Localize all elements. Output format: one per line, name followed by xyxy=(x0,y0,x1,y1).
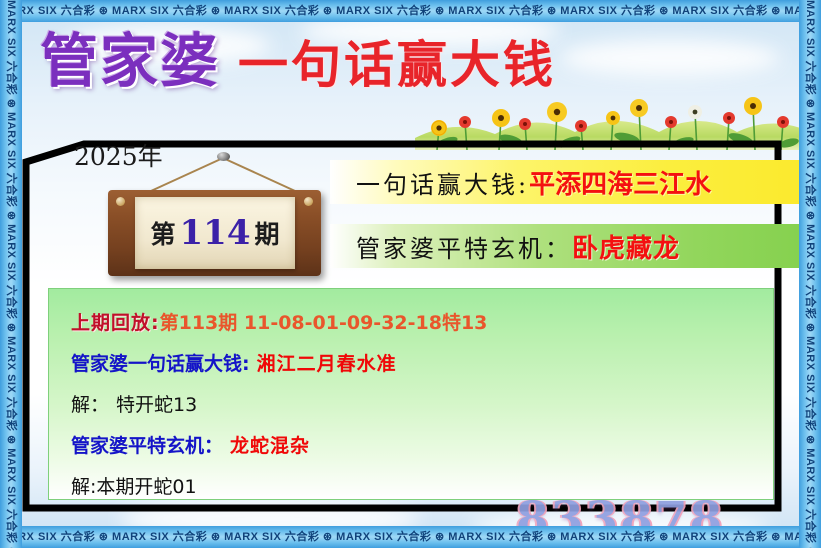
sign-nail xyxy=(217,152,230,161)
banner-row-mystery: 管家婆平特玄机： 卧虎藏龙 xyxy=(330,224,800,268)
border-left: MARX SIX 六合彩 ⊛ MARX SIX 六合彩 ⊛ MARX SIX 六… xyxy=(0,0,22,548)
banner-row-prediction: 一句话赢大钱: 平添四海三江水 xyxy=(330,160,800,204)
cloud-decor-3 xyxy=(560,40,780,76)
review-value-3: 龙蛇混杂 xyxy=(230,431,310,458)
banner-value-2: 卧虎藏龙 xyxy=(572,228,680,265)
sign-paper: 第 114 期 xyxy=(135,197,295,269)
review-label-3: 管家婆平特玄机： xyxy=(71,431,223,458)
review-label-1: 管家婆一句话赢大钱: xyxy=(71,349,250,376)
review-label-0: 上期回放: xyxy=(71,308,160,335)
review-row-playback: 上期回放: 第113期 11-08-01-09-32-18特13 xyxy=(71,301,773,342)
review-row-answer-1: 解： 特开蛇13 xyxy=(71,383,773,424)
border-bottom-text: MARX SIX 六合彩 ⊛ MARX SIX 六合彩 ⊛ MARX SIX 六… xyxy=(0,526,821,548)
slogan-title: 一句话赢大钱 xyxy=(238,40,556,90)
banner-label-2: 管家婆平特玄机： xyxy=(356,229,572,264)
brand-title: 管家婆 xyxy=(40,32,220,90)
border-right: MARX SIX 六合彩 ⊛ MARX SIX 六合彩 ⊛ MARX SIX 六… xyxy=(799,0,821,548)
border-right-text: MARX SIX 六合彩 ⊛ MARX SIX 六合彩 ⊛ MARX SIX 六… xyxy=(799,0,821,548)
poster-title: 管家婆 一句话赢大钱 xyxy=(40,32,556,90)
banner-value-1: 平添四海三江水 xyxy=(529,164,711,201)
border-top: MARX SIX 六合彩 ⊛ MARX SIX 六合彩 ⊛ MARX SIX 六… xyxy=(0,0,821,22)
previous-results-panel: 上期回放: 第113期 11-08-01-09-32-18特13 管家婆一句话赢… xyxy=(48,288,774,500)
review-label-2: 解： xyxy=(71,390,109,417)
border-top-text: MARX SIX 六合彩 ⊛ MARX SIX 六合彩 ⊛ MARX SIX 六… xyxy=(0,0,821,22)
issue-number-display: 第 114 期 xyxy=(135,197,295,269)
review-value-1: 湘江二月春水准 xyxy=(257,349,397,376)
border-bottom: MARX SIX 六合彩 ⊛ MARX SIX 六合彩 ⊛ MARX SIX 六… xyxy=(0,526,821,548)
issue-suffix: 期 xyxy=(254,215,279,251)
review-row-slogan: 管家婆一句话赢大钱: 湘江二月春水准 xyxy=(71,342,773,383)
issue-prefix: 第 xyxy=(150,215,175,251)
border-left-text: MARX SIX 六合彩 ⊛ MARX SIX 六合彩 ⊛ MARX SIX 六… xyxy=(0,0,22,548)
sign-plank: 第 114 期 xyxy=(108,190,321,276)
hanging-sign: 第 114 期 xyxy=(100,152,330,282)
issue-number: 114 xyxy=(177,213,254,253)
review-row-mystery: 管家婆平特玄机： 龙蛇混杂 xyxy=(71,424,773,465)
review-value-0: 第113期 11-08-01-09-32-18特13 xyxy=(160,308,488,335)
banner-label-1: 一句话赢大钱: xyxy=(356,165,529,200)
review-label-4: 解:本期开蛇01 xyxy=(71,472,197,499)
review-value-2: 特开蛇13 xyxy=(116,390,197,417)
poster-canvas: 管家婆 一句话赢大钱 xyxy=(0,0,821,548)
